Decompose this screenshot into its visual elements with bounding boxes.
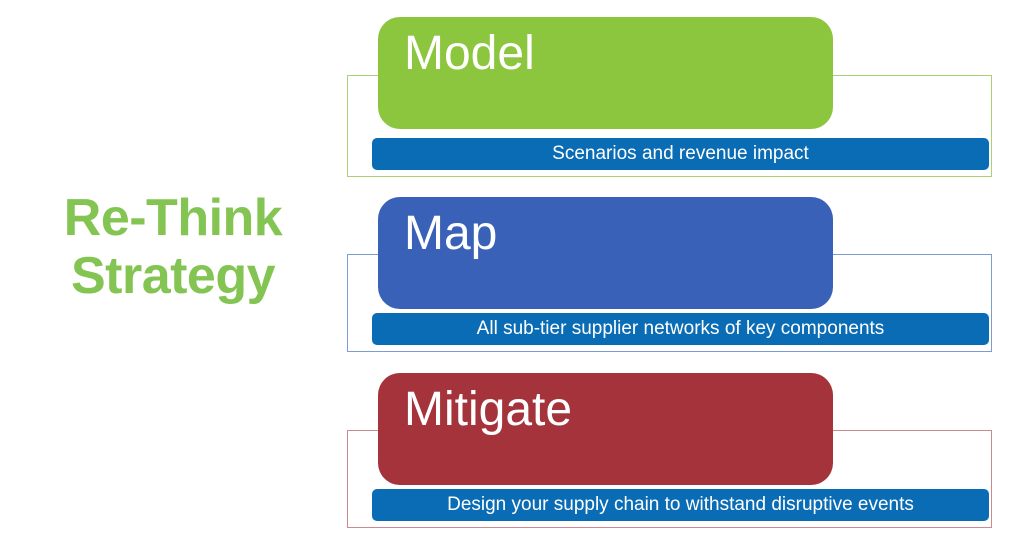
step-caption-mitigate[interactable]: Design your supply chain to withstand di…: [372, 489, 989, 521]
slide-canvas: Re-Think Strategy Model Scenarios and re…: [0, 0, 1024, 543]
step-pill-label-map: Map: [404, 203, 497, 265]
step-pill-map[interactable]: Map: [378, 197, 833, 309]
step-pill-label-mitigate: Mitigate: [404, 379, 572, 441]
step-caption-map[interactable]: All sub-tier supplier networks of key co…: [372, 313, 989, 345]
step-caption-model[interactable]: Scenarios and revenue impact: [372, 138, 989, 170]
page-title: Re-Think Strategy: [18, 189, 328, 305]
step-pill-mitigate[interactable]: Mitigate: [378, 373, 833, 485]
step-pill-label-model: Model: [404, 23, 535, 85]
step-pill-model[interactable]: Model: [378, 17, 833, 129]
